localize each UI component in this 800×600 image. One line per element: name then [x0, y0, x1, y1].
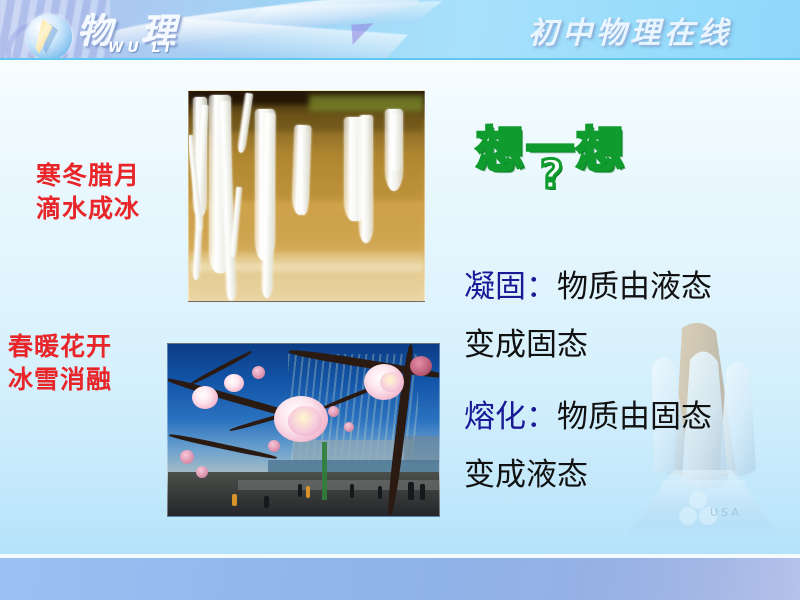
pen-in-circle-icon[interactable]: [26, 14, 72, 60]
footer-bar: [0, 558, 800, 600]
space-shuttle-watermark: USA: [604, 320, 794, 550]
airliner-tail-icon: [351, 23, 374, 44]
definition-2-text1: 物质由固态: [557, 399, 712, 435]
banner-underline: [0, 58, 800, 60]
definition-1-term: 凝固：: [464, 269, 557, 305]
slide-canvas: 物 理 WU LI 初中物理在线: [0, 0, 800, 600]
caption-winter-line1: 寒冬腊月: [36, 159, 140, 192]
definition-1-line1: 凝固：物质由液态: [464, 272, 712, 303]
definition-2-term: 熔化：: [464, 399, 557, 435]
wordart-question-mark: ?: [540, 152, 563, 198]
site-title: 初中物理在线: [528, 8, 732, 52]
caption-spring-line2: 冰雪消融: [8, 363, 112, 396]
definition-1-line2: 变成固态: [464, 330, 588, 361]
definition-1-text1: 物质由液态: [557, 269, 712, 305]
caption-spring: 春暖花开 冰雪消融: [8, 330, 112, 396]
caption-spring-line1: 春暖花开: [8, 330, 112, 363]
icicles-photo: [188, 90, 425, 302]
caption-winter-line2: 滴水成冰: [36, 192, 140, 225]
caption-winter: 寒冬腊月 滴水成冰: [36, 159, 140, 225]
definition-2-line2: 变成液态: [464, 460, 588, 491]
svg-text:USA: USA: [710, 506, 742, 519]
definition-2-line1: 熔化：物质由固态: [464, 402, 712, 433]
logo-pinyin-text: WU LI: [108, 40, 174, 56]
header-banner: 物 理 WU LI 初中物理在线: [0, 0, 800, 60]
blossom-photo: [167, 343, 440, 517]
